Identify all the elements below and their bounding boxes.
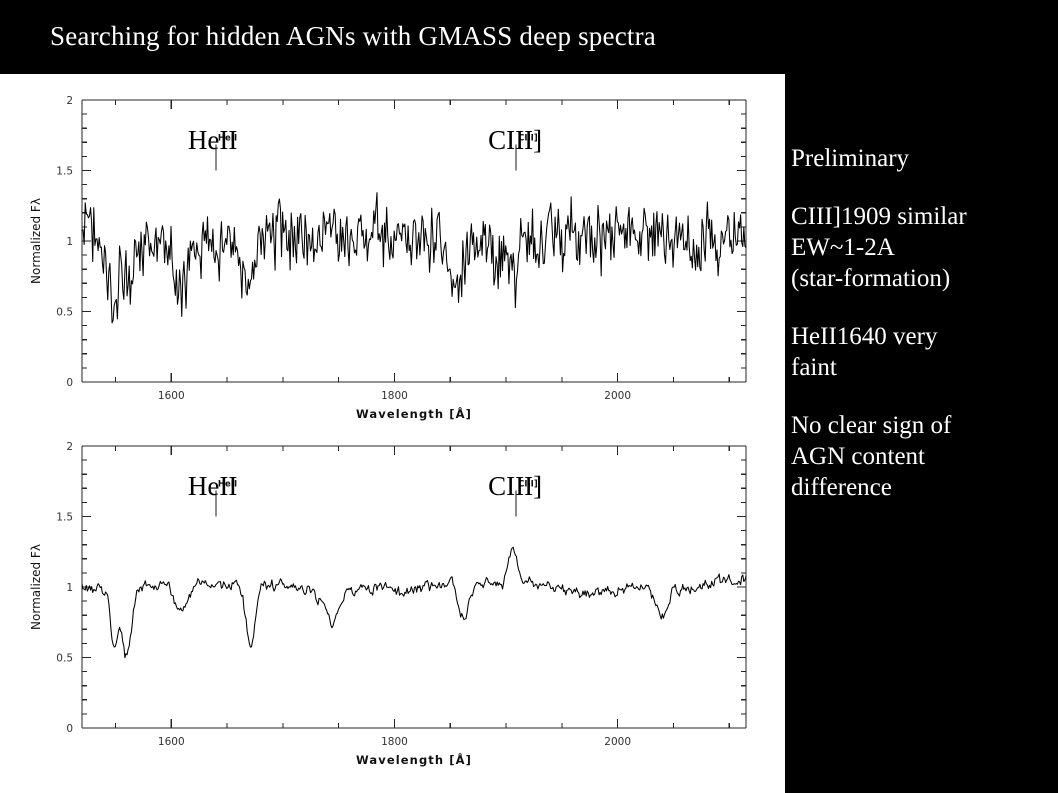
- note-line: HeII1640 very: [791, 321, 1049, 352]
- note-line: difference: [791, 472, 1049, 503]
- line-label-heii-top: HeII: [188, 127, 237, 154]
- note-line: AGN content: [791, 441, 1049, 472]
- y-tick-label: 2: [66, 95, 73, 107]
- y-tick-label: 0: [66, 723, 73, 735]
- x-axis-title: Wavelength [Å]: [356, 752, 472, 767]
- y-tick-label: 0.5: [56, 653, 73, 665]
- x-tick-label: 1600: [158, 736, 185, 748]
- spectrum-chart-bottom: 16001800200000.511.52Wavelength [Å]Norma…: [0, 430, 785, 775]
- x-tick-label: 2000: [604, 736, 631, 748]
- y-tick-label: 0: [66, 377, 73, 389]
- note-line: (star-formation): [791, 263, 1049, 294]
- x-tick-label: 1800: [381, 736, 408, 748]
- x-axis-title: Wavelength [Å]: [356, 406, 472, 421]
- line-label-ciii-top: CIII]: [488, 127, 542, 154]
- note-line: EW~1-2A: [791, 232, 1049, 263]
- plot-svg: 16001800200000.511.52Wavelength [Å]Norma…: [0, 84, 785, 429]
- notes-column: PreliminaryCIII]1909 similarEW~1-2A(star…: [791, 143, 1049, 503]
- slide-root: Searching for hidden AGNs with GMASS dee…: [0, 0, 1058, 793]
- plot-svg: 16001800200000.511.52Wavelength [Å]Norma…: [0, 430, 785, 775]
- y-tick-label: 1: [66, 236, 73, 248]
- spectrum-chart-top: 16001800200000.511.52Wavelength [Å]Norma…: [0, 84, 785, 429]
- plot-frame: [82, 446, 746, 728]
- y-tick-label: 0.5: [56, 307, 73, 319]
- line-label-heii-bottom: HeII: [188, 473, 237, 500]
- y-axis-title: Normalized Fλ: [29, 544, 43, 630]
- note-line: No clear sign of: [791, 410, 1049, 441]
- x-tick-label: 1600: [158, 390, 185, 402]
- note-no-difference: No clear sign ofAGN contentdifference: [791, 410, 1049, 503]
- page-title: Searching for hidden AGNs with GMASS dee…: [50, 20, 950, 52]
- x-tick-label: 2000: [604, 390, 631, 402]
- spectrum-line: [82, 193, 746, 323]
- note-line: Preliminary: [791, 143, 1049, 174]
- note-line: CIII]1909 similar: [791, 201, 1049, 232]
- y-tick-label: 1.5: [56, 166, 73, 178]
- y-axis-title: Normalized Fλ: [29, 198, 43, 284]
- note-ciii-ew: CIII]1909 similarEW~1-2A(star-formation): [791, 201, 1049, 294]
- y-tick-label: 1: [66, 582, 73, 594]
- plot-frame: [82, 100, 746, 382]
- line-label-ciii-bottom: CIII]: [488, 473, 542, 500]
- x-tick-label: 1800: [381, 390, 408, 402]
- y-tick-label: 2: [66, 441, 73, 453]
- note-line: faint: [791, 352, 1049, 383]
- y-tick-label: 1.5: [56, 512, 73, 524]
- note-preliminary: Preliminary: [791, 143, 1049, 174]
- spectrum-line: [82, 547, 746, 657]
- figure-panel: 16001800200000.511.52Wavelength [Å]Norma…: [0, 74, 785, 793]
- note-heii-faint: HeII1640 veryfaint: [791, 321, 1049, 383]
